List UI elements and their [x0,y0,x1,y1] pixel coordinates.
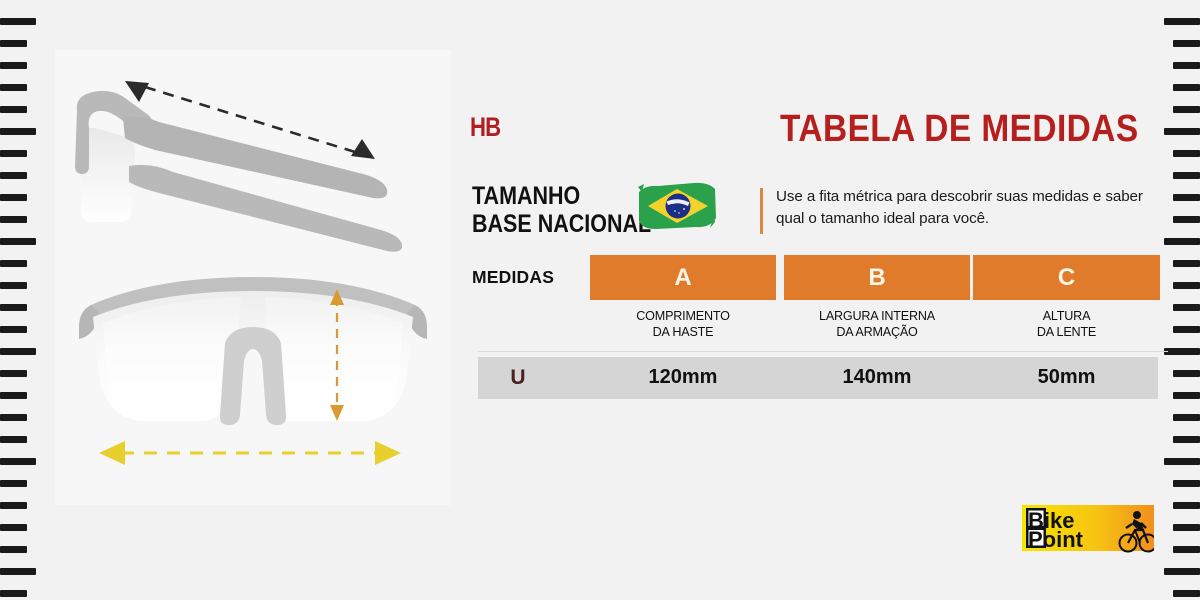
size-chart-graphic: HB TABELA DE MEDIDAS TAMANHO BASE NACION… [0,0,1200,600]
dimension-a-arrow-start [125,81,149,102]
ruler-tick-minor [1173,172,1200,179]
ruler-tick-major [0,348,36,355]
illustration-panel [55,50,451,505]
ruler-tick-minor [0,370,27,377]
cell-b-value: 140mm [784,366,970,389]
ruler-tick-major [0,458,36,465]
column-subtitle-b-line1: LARGURA INTERNA [784,308,970,324]
column-subtitle-c-line1: ALTURA [973,308,1160,324]
ruler-tick-minor [1173,326,1200,333]
size-standard-line2: BASE NACIONAL [472,210,651,238]
instruction-accent-bar [760,188,763,234]
ruler-tick-minor [0,414,27,421]
ruler-tick-major [1164,238,1200,245]
ruler-tick-minor [1173,524,1200,531]
column-header-a: A [590,255,776,300]
ruler-tick-major [0,18,36,25]
ruler-tick-minor [0,590,27,597]
row-size-label: U [498,366,538,390]
instruction-block: Use a fita métrica para descobrir suas m… [760,186,1160,229]
ruler-tick-minor [0,260,27,267]
table-corner-label: MEDIDAS [472,267,554,288]
ruler-tick-major [1164,568,1200,575]
table-header-row: MEDIDAS A B C [468,255,1168,300]
table-divider [478,351,1168,352]
ruler-tick-minor [0,304,27,311]
ruler-tick-minor [0,40,27,47]
ruler-tick-minor [0,172,27,179]
logo-text-line2: Point [1028,527,1084,552]
ruler-tick-minor [1173,216,1200,223]
brazil-flag-icon [636,178,718,234]
ruler-tick-minor [0,480,27,487]
bike-point-logo: Bike Point [1022,503,1154,555]
size-standard-line1: TAMANHO [472,182,651,210]
ruler-tick-minor [1173,84,1200,91]
column-subtitle-a-line1: COMPRIMENTO [590,308,776,324]
ruler-tick-major [1164,18,1200,25]
column-header-b: B [784,255,970,300]
ruler-tick-major [0,128,36,135]
column-subtitle-c: ALTURA DA LENTE [973,308,1160,340]
ruler-tick-major [1164,458,1200,465]
ruler-tick-major [0,568,36,575]
column-subtitle-b: LARGURA INTERNA DA ARMAÇÃO [784,308,970,340]
ruler-tick-minor [1173,62,1200,69]
ruler-tick-minor [0,150,27,157]
column-subtitle-b-line2: DA ARMAÇÃO [784,324,970,340]
cell-a-value: 120mm [590,366,776,389]
ruler-tick-minor [1173,436,1200,443]
measuring-tape-edge-left [0,0,48,600]
dimension-b-arrow-right [375,441,401,465]
column-subtitle-a-line2: DA HASTE [590,324,776,340]
hb-brand-logo: HB [470,114,500,141]
ruler-tick-minor [1173,260,1200,267]
column-subtitle-a: COMPRIMENTO DA HASTE [590,308,776,340]
ruler-tick-minor [1173,392,1200,399]
sunglasses-side-view [63,70,443,260]
ruler-tick-minor [1173,106,1200,113]
ruler-tick-minor [0,502,27,509]
ruler-tick-minor [0,282,27,289]
ruler-tick-minor [0,436,27,443]
table-row: U 120mm 140mm 50mm [478,357,1158,399]
ruler-tick-major [1164,128,1200,135]
ruler-tick-minor [1173,414,1200,421]
ruler-tick-major [0,238,36,245]
column-subtitle-c-line2: DA LENTE [973,324,1160,340]
ruler-tick-minor [1173,480,1200,487]
instruction-text: Use a fita métrica para descobrir suas m… [776,186,1160,229]
dimension-a-arrow-end [351,139,375,159]
ruler-tick-minor [1173,370,1200,377]
ruler-tick-minor [1173,502,1200,509]
ruler-tick-minor [1173,304,1200,311]
ruler-tick-minor [1173,546,1200,553]
ruler-tick-minor [1173,590,1200,597]
ruler-tick-minor [1173,40,1200,47]
ruler-tick-minor [0,216,27,223]
page-title: TABELA DE MEDIDAS [780,110,1139,148]
ruler-tick-minor [1173,150,1200,157]
ruler-tick-minor [1173,194,1200,201]
ruler-tick-minor [0,546,27,553]
ruler-tick-minor [0,106,27,113]
ruler-tick-minor [0,524,27,531]
cell-c-value: 50mm [973,366,1160,389]
ruler-tick-minor [0,194,27,201]
column-header-c: C [973,255,1160,300]
ruler-tick-minor [0,62,27,69]
ruler-tick-major [1164,348,1200,355]
dimension-b-arrow-left [99,441,125,465]
sunglasses-front-view [65,265,441,480]
ruler-tick-minor [0,326,27,333]
ruler-tick-minor [0,392,27,399]
ruler-tick-minor [0,84,27,91]
ruler-tick-minor [1173,282,1200,289]
measurements-table: MEDIDAS A B C COMPRIMENTO DA HASTE LARGU… [468,255,1168,300]
size-standard-label: TAMANHO BASE NACIONAL [472,182,651,238]
